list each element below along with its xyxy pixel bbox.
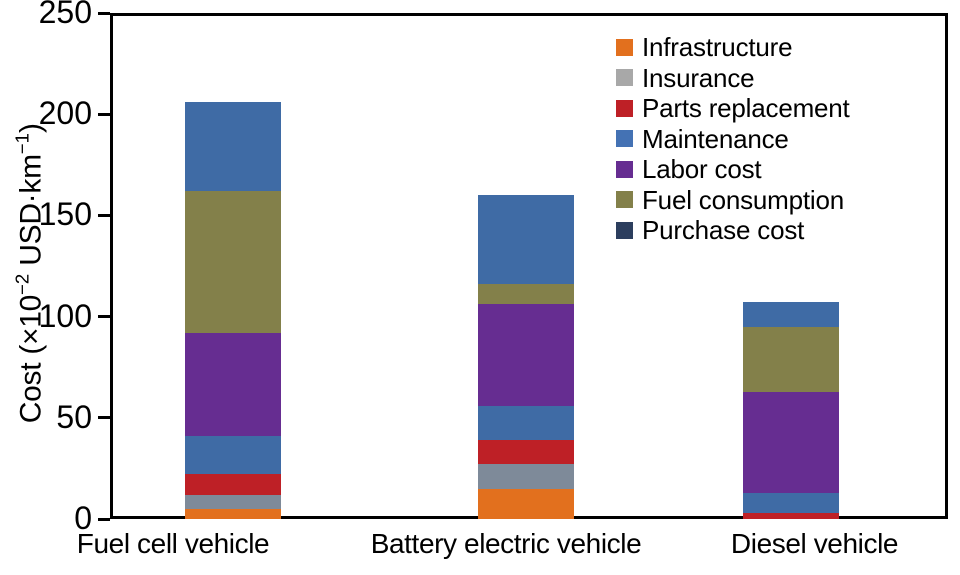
legend-swatch-icon (616, 191, 633, 208)
legend-item-parts-replacement[interactable]: Parts replacement (616, 93, 850, 124)
bar-segment-maintenance[interactable] (185, 436, 281, 474)
bar-segment-maintenance[interactable] (478, 406, 574, 440)
legend-swatch-icon (616, 100, 633, 117)
bar-segment-parts-replacement[interactable] (743, 513, 839, 519)
bar-segment-labor-cost[interactable] (743, 392, 839, 493)
legend-label: Infrastructure (642, 33, 792, 61)
legend-label: Insurance (642, 64, 754, 92)
y-tick-label-50: 50 (56, 398, 92, 436)
stacked-bar-chart-figure: Cost (×10−2 USD·km−1) 0 50 100 150 200 2… (0, 0, 960, 575)
legend-item-labor-cost[interactable]: Labor cost (616, 154, 850, 185)
legend-item-fuel-consumption[interactable]: Fuel consumption (616, 185, 850, 216)
bar-segment-fuel-consumption[interactable] (185, 191, 281, 333)
x-tick-label-fuel-cell-vehicle: Fuel cell vehicle (43, 527, 303, 561)
bar-segment-fuel-consumption[interactable] (743, 327, 839, 392)
legend-item-purchase-cost[interactable]: Purchase cost (616, 215, 850, 246)
y-axis-title-exponent-2: −1 (12, 133, 33, 154)
legend-label: Labor cost (642, 155, 761, 183)
legend-swatch-icon (616, 161, 633, 178)
bar-segment-insurance[interactable] (185, 495, 281, 509)
legend-item-infrastructure[interactable]: Infrastructure (616, 32, 850, 63)
bar-segment-parts-replacement[interactable] (185, 474, 281, 494)
bar-segment-parts-replacement[interactable] (478, 440, 574, 464)
x-tick-label-diesel-vehicle: Diesel vehicle (692, 527, 937, 561)
y-axis-title-exponent-1: −2 (12, 274, 33, 295)
bar-segment-infrastructure[interactable] (478, 489, 574, 519)
legend-label: Purchase cost (642, 216, 804, 244)
x-tick-label-battery-electric-vehicle: Battery electric vehicle (330, 527, 682, 561)
bar-segment-maintenance[interactable] (743, 493, 839, 513)
bar-segment-maintenance[interactable] (185, 102, 281, 191)
legend-swatch-icon (616, 222, 633, 239)
legend-swatch-icon (616, 39, 633, 56)
y-tick-mark-100 (98, 315, 110, 318)
y-tick-label-250: 250 (39, 0, 92, 31)
bar-segment-labor-cost[interactable] (478, 304, 574, 405)
y-tick-mark-0 (98, 518, 110, 521)
bar-segment-infrastructure[interactable] (185, 509, 281, 519)
y-tick-mark-150 (98, 214, 110, 217)
y-tick-label-100: 100 (39, 297, 92, 335)
legend-swatch-icon (616, 69, 633, 86)
bar-segment-insurance[interactable] (478, 464, 574, 488)
legend-label: Fuel consumption (642, 186, 844, 214)
legend-label: Maintenance (642, 125, 789, 153)
y-tick-mark-50 (98, 416, 110, 419)
legend-label: Parts replacement (642, 94, 850, 122)
y-tick-mark-250 (98, 12, 110, 15)
legend-item-maintenance[interactable]: Maintenance (616, 124, 850, 155)
legend: InfrastructureInsuranceParts replacement… (616, 32, 850, 246)
bar-segment-maintenance[interactable] (743, 302, 839, 326)
y-tick-label-150: 150 (39, 195, 92, 233)
bar-segment-maintenance[interactable] (478, 195, 574, 284)
y-tick-label-200: 200 (39, 94, 92, 132)
bar-segment-labor-cost[interactable] (185, 333, 281, 436)
bar-segment-fuel-consumption[interactable] (478, 284, 574, 304)
y-tick-mark-200 (98, 113, 110, 116)
legend-swatch-icon (616, 130, 633, 147)
legend-item-insurance[interactable]: Insurance (616, 63, 850, 94)
